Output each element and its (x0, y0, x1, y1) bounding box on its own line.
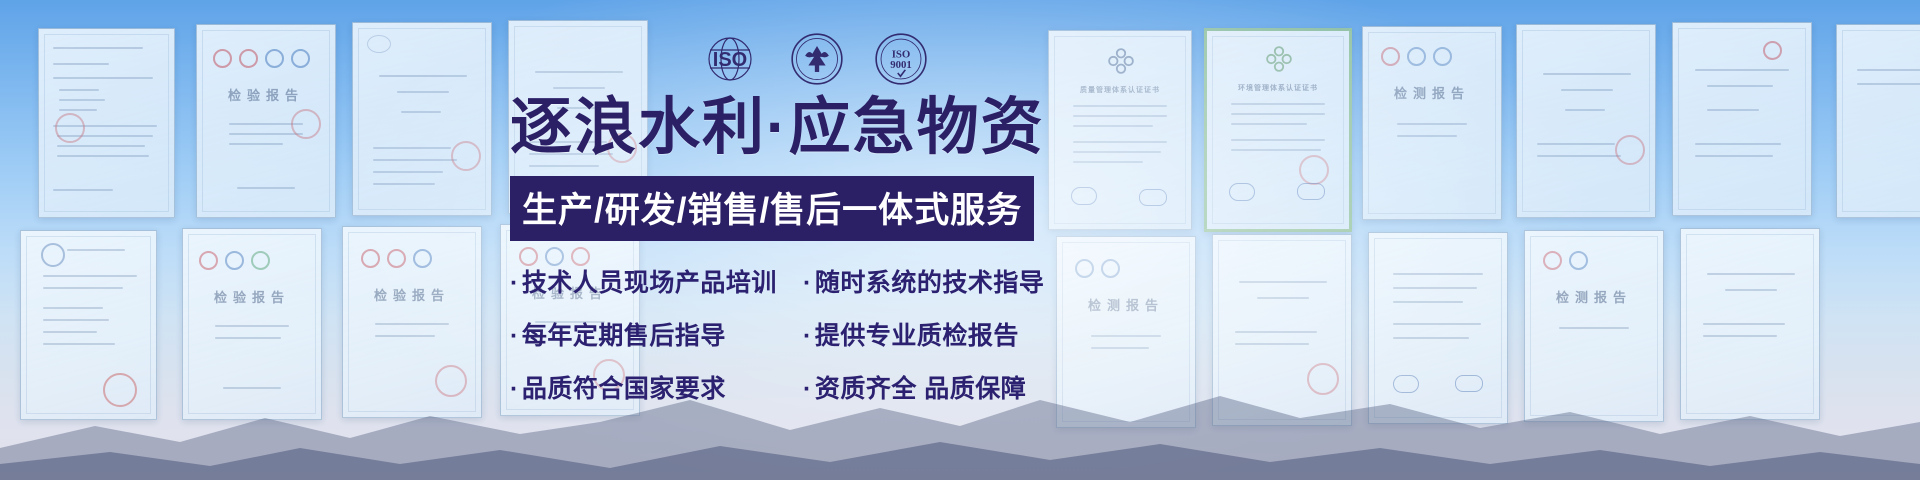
certificate-line (223, 387, 281, 389)
certificate-line (43, 275, 137, 277)
certificate-sheet (20, 230, 157, 420)
certificate-sheet (1516, 24, 1656, 218)
certificate-seal (451, 141, 481, 171)
certificate-line (373, 171, 443, 173)
certificate-seal (103, 373, 137, 407)
cqc-logo-icon (213, 49, 232, 68)
cnas-logo-icon (1393, 375, 1419, 393)
certificate-line (1393, 273, 1483, 275)
certificate-line (1231, 123, 1307, 125)
certificate-line (379, 75, 467, 77)
certificate-logo-row (213, 49, 310, 68)
certificate-line (229, 143, 283, 145)
certificate-sheet: 环境管理体系认证证书 (1204, 28, 1352, 232)
certificate-watermark (367, 35, 391, 53)
cnas-logo-icon (1433, 47, 1452, 66)
certificate-seal (435, 365, 467, 397)
certificate-logo-row (1381, 47, 1452, 66)
iso-badge-label: ISO (713, 49, 747, 71)
certificate-line (1231, 103, 1325, 105)
cnas-logo-icon (291, 49, 310, 68)
certificate-line (1231, 149, 1321, 151)
feature-label: 品质符合国家要求 (522, 375, 726, 403)
feature-label: 每年定期售后指导 (522, 322, 726, 350)
certificate-line (1393, 337, 1469, 339)
certificate-line (43, 287, 123, 289)
feature-label: 随时系统的技术指导 (815, 269, 1045, 297)
iaf-logo-icon (1297, 183, 1325, 200)
certificate-emblem-icon (41, 243, 65, 267)
page-title: 逐浪水利·应急物资 (510, 95, 1110, 160)
certificate-line (375, 323, 449, 325)
certificate-line (373, 147, 451, 149)
certificate-line (43, 307, 103, 309)
certificate-inner-border (1678, 28, 1806, 210)
bullet-icon: · (510, 269, 519, 297)
bullet-icon: · (510, 375, 519, 403)
promo-banner: 检验报告 (0, 0, 1920, 480)
feature-item: ·资质齐全 品质保障 (803, 369, 1110, 405)
service-subtitle-bar: 生产/研发/销售/售后一体式服务 (510, 176, 1034, 241)
certificate-line (59, 99, 105, 101)
certificate-line (1559, 327, 1629, 329)
cma-logo-icon (1407, 47, 1426, 66)
certificate-line (1393, 287, 1477, 289)
certificate-sheet (1368, 232, 1508, 424)
certificate-line (1707, 273, 1795, 275)
certificate-line (373, 159, 457, 161)
feature-item: ·每年定期售后指导 (510, 316, 795, 352)
certificate-logo-row (361, 249, 432, 268)
certificate-sheet: 检测报告 (1362, 26, 1502, 220)
certificate-line (59, 89, 99, 91)
feature-label: 技术人员现场产品培训 (522, 269, 777, 297)
certificate-sheet (1680, 228, 1820, 420)
certificate-sheet (1836, 24, 1920, 218)
certificate-sheet: 检验报告 (182, 228, 322, 420)
certificate-title: 检验报告 (343, 285, 481, 304)
certificate-line (1695, 143, 1781, 145)
certificate-inner-border (1522, 30, 1650, 212)
certificate-line (237, 187, 295, 189)
certificate-inner-border (1842, 30, 1920, 212)
certificate-title: 检测报告 (1525, 287, 1663, 306)
certificate-line (1565, 109, 1605, 111)
certificate-line (1707, 109, 1759, 111)
certificate-line (1393, 323, 1481, 325)
bullet-icon: · (510, 322, 519, 350)
certificate-line (1393, 301, 1463, 303)
iso-globe-badge: ISO (700, 35, 760, 88)
iaf-logo-icon (1139, 189, 1167, 206)
certificate-line (535, 71, 623, 73)
certificate-line (53, 47, 143, 49)
ccc-logo-icon (387, 249, 406, 268)
certificate-line (59, 109, 97, 111)
certificate-line (1397, 135, 1457, 137)
certificate-line (1561, 89, 1613, 91)
certificate-logo-row (1543, 251, 1588, 270)
certificate-line (1695, 155, 1773, 157)
certificate-line (43, 331, 97, 333)
certificate-line (43, 343, 115, 345)
certificate-title: 环境管理体系认证证书 (1207, 83, 1349, 93)
certificate-line (53, 63, 109, 65)
certificate-line (1707, 85, 1773, 87)
certificate-line (1257, 297, 1309, 299)
certificate-sheet (352, 22, 492, 216)
certificate-line (1703, 335, 1777, 337)
banner-content: 逐浪水利·应急物资 生产/研发/销售/售后一体式服务 ·技术人员现场产品培训 ·… (510, 95, 1110, 405)
certificate-title: 检测报告 (1363, 83, 1501, 102)
environment-emblem-icon (1265, 45, 1293, 73)
certificate-line (1543, 73, 1631, 75)
certificate-line (553, 87, 605, 89)
certificate-line (57, 145, 145, 147)
bullet-icon: · (803, 269, 812, 297)
feature-label: 提供专业质检报告 (815, 322, 1019, 350)
certification-badge-row: ISO ISO 9001 (700, 32, 928, 91)
certificate-line (67, 249, 125, 251)
cqc-logo-icon (1543, 251, 1562, 270)
certificate-line (1703, 323, 1785, 325)
certificate-line (1537, 155, 1621, 157)
cnas-logo-icon (1229, 183, 1255, 201)
certificate-sheet: 检验报告 (196, 24, 336, 218)
feature-list: ·技术人员现场产品培训 ·随时系统的技术指导 ·每年定期售后指导 ·提供专业质检… (510, 263, 1110, 405)
certificate-seal (1307, 363, 1339, 395)
certificate-line (1231, 139, 1325, 141)
certificate-sheet (1212, 234, 1352, 426)
certificate-title: 检验报告 (183, 287, 321, 306)
certificate-sheet (1672, 22, 1812, 216)
svg-text:ISO: ISO (892, 48, 911, 60)
certificate-line (215, 337, 281, 339)
certificate-line (1857, 69, 1920, 71)
quality-emblem-icon (1107, 47, 1135, 75)
certificate-line (1231, 113, 1325, 115)
certificate-line (1695, 69, 1789, 71)
feature-item: ·随时系统的技术指导 (803, 263, 1110, 299)
certificate-logo-row (1763, 41, 1782, 60)
feature-item: ·技术人员现场产品培训 (510, 263, 795, 299)
certificate-title: 检验报告 (197, 85, 335, 104)
ccc-logo-icon (239, 49, 258, 68)
cqc-logo-icon (1381, 47, 1400, 66)
certificate-sheet: 检验报告 (342, 226, 482, 418)
certificate-line (1537, 143, 1615, 145)
cqc-logo-icon (361, 249, 380, 268)
certificate-line (1397, 123, 1467, 125)
cnas-logo-icon (251, 251, 270, 270)
feature-item: ·提供专业质检报告 (803, 316, 1110, 352)
certificate-title: 质量管理体系认证证书 (1049, 85, 1191, 95)
certificate-inner-border (1374, 238, 1502, 418)
iaf-logo-icon (1455, 375, 1483, 392)
certificate-line (373, 183, 435, 185)
certificate-line (401, 111, 441, 113)
bullet-icon: · (803, 375, 812, 403)
certificate-seal (291, 109, 321, 139)
certificate-seal (1299, 155, 1329, 185)
cma-logo-icon (1569, 251, 1588, 270)
feature-item: ·品质符合国家要求 (510, 369, 795, 405)
cqc-logo-icon (199, 251, 218, 270)
certificate-logo-row (199, 251, 270, 270)
certificate-line (1239, 281, 1327, 283)
certificate-line (53, 77, 153, 79)
certificate-line (57, 155, 149, 157)
certificate-seal (1615, 135, 1645, 165)
certificate-seal (55, 113, 85, 143)
certificate-line (215, 325, 289, 327)
bullet-icon: · (803, 322, 812, 350)
certificate-line (1857, 83, 1920, 85)
cma-logo-icon (225, 251, 244, 270)
cqc-logo-icon (1763, 41, 1782, 60)
feature-label: 资质齐全 品质保障 (815, 375, 1026, 403)
certificate-line (375, 335, 435, 337)
certificate-sheet (38, 28, 175, 218)
cma-logo-icon (265, 49, 284, 68)
iso14000-badge (790, 32, 844, 91)
certificate-line (397, 91, 449, 93)
certificate-line (1235, 331, 1317, 333)
certificate-line (1725, 289, 1777, 291)
certificate-line (1235, 343, 1309, 345)
certificate-line (53, 189, 113, 191)
certificate-line (43, 319, 109, 321)
cma-logo-icon (413, 249, 432, 268)
certificate-sheet: 检测报告 (1524, 230, 1664, 422)
svg-text:9001: 9001 (890, 59, 912, 71)
iso9001-badge: ISO 9001 (874, 32, 928, 91)
certificate-line (229, 133, 303, 135)
